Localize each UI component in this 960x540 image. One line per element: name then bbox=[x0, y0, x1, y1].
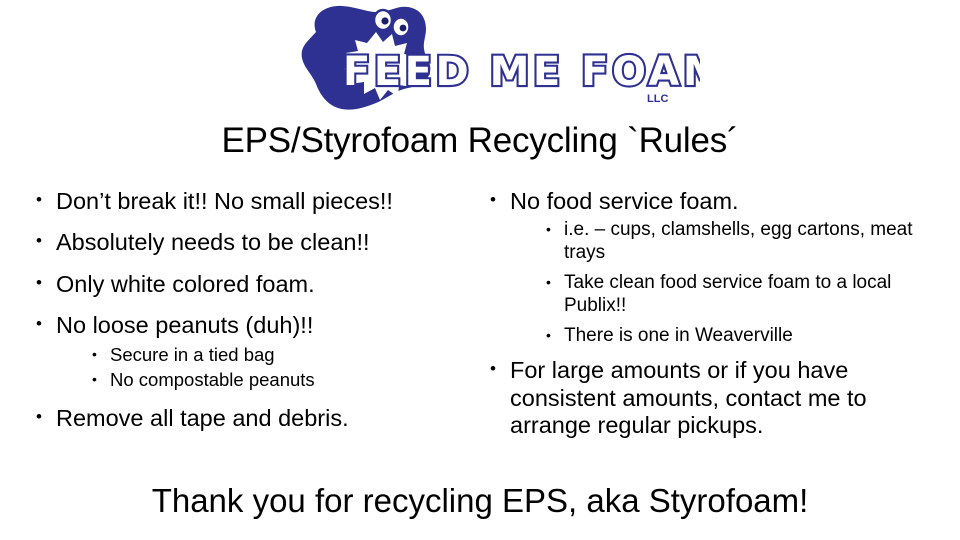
logo-wordmark: FEED ME FOAM bbox=[343, 49, 700, 95]
sub-list-item: There is one in Weaverville bbox=[538, 325, 934, 348]
slide-canvas: FEED ME FOAM LLC EPS/Styrofoam Recycling… bbox=[0, 0, 960, 540]
rules-list-left: Don’t break it!! No small pieces!! Absol… bbox=[30, 188, 475, 432]
list-item: No food service foam. i.e. – cups, clams… bbox=[484, 188, 934, 347]
sub-list: i.e. – cups, clamshells, egg cartons, me… bbox=[510, 219, 934, 347]
sub-list-item: i.e. – cups, clamshells, egg cartons, me… bbox=[538, 219, 934, 265]
list-item: Absolutely needs to be clean!! bbox=[30, 229, 475, 256]
list-item: Don’t break it!! No small pieces!! bbox=[30, 188, 475, 215]
list-item: Only white colored foam. bbox=[30, 271, 475, 298]
bullet-text: No loose peanuts (duh)!! bbox=[56, 312, 475, 339]
bullet-text: Remove all tape and debris. bbox=[56, 405, 475, 432]
sub-list-item: Take clean food service foam to a local … bbox=[538, 272, 934, 318]
logo-llc-suffix: LLC bbox=[647, 93, 668, 105]
bullet-text: Don’t break it!! No small pieces!! bbox=[56, 188, 475, 215]
bullet-text: Absolutely needs to be clean!! bbox=[56, 229, 475, 256]
company-logo: FEED ME FOAM LLC bbox=[280, 2, 700, 114]
list-item: Remove all tape and debris. bbox=[30, 405, 475, 432]
page-title: EPS/Styrofoam Recycling `Rules´ bbox=[0, 121, 960, 160]
sub-list: Secure in a tied bag No compostable pean… bbox=[56, 344, 475, 391]
closing-message: Thank you for recycling EPS, aka Styrofo… bbox=[0, 483, 960, 520]
sub-list-item: Secure in a tied bag bbox=[84, 344, 475, 366]
bullet-text: For large amounts or if you have consist… bbox=[510, 357, 934, 439]
sub-list-item: No compostable peanuts bbox=[84, 369, 475, 391]
feed-me-foam-logo-graphic: FEED ME FOAM LLC bbox=[280, 2, 700, 114]
bullet-text: Only white colored foam. bbox=[56, 271, 475, 298]
rules-column-left: Don’t break it!! No small pieces!! Absol… bbox=[30, 188, 475, 446]
rules-list-right: No food service foam. i.e. – cups, clams… bbox=[484, 188, 934, 440]
bullet-text: No food service foam. bbox=[510, 188, 934, 215]
list-item: No loose peanuts (duh)!! Secure in a tie… bbox=[30, 312, 475, 390]
list-item: For large amounts or if you have consist… bbox=[484, 357, 934, 439]
rules-column-right: No food service foam. i.e. – cups, clams… bbox=[484, 188, 934, 450]
